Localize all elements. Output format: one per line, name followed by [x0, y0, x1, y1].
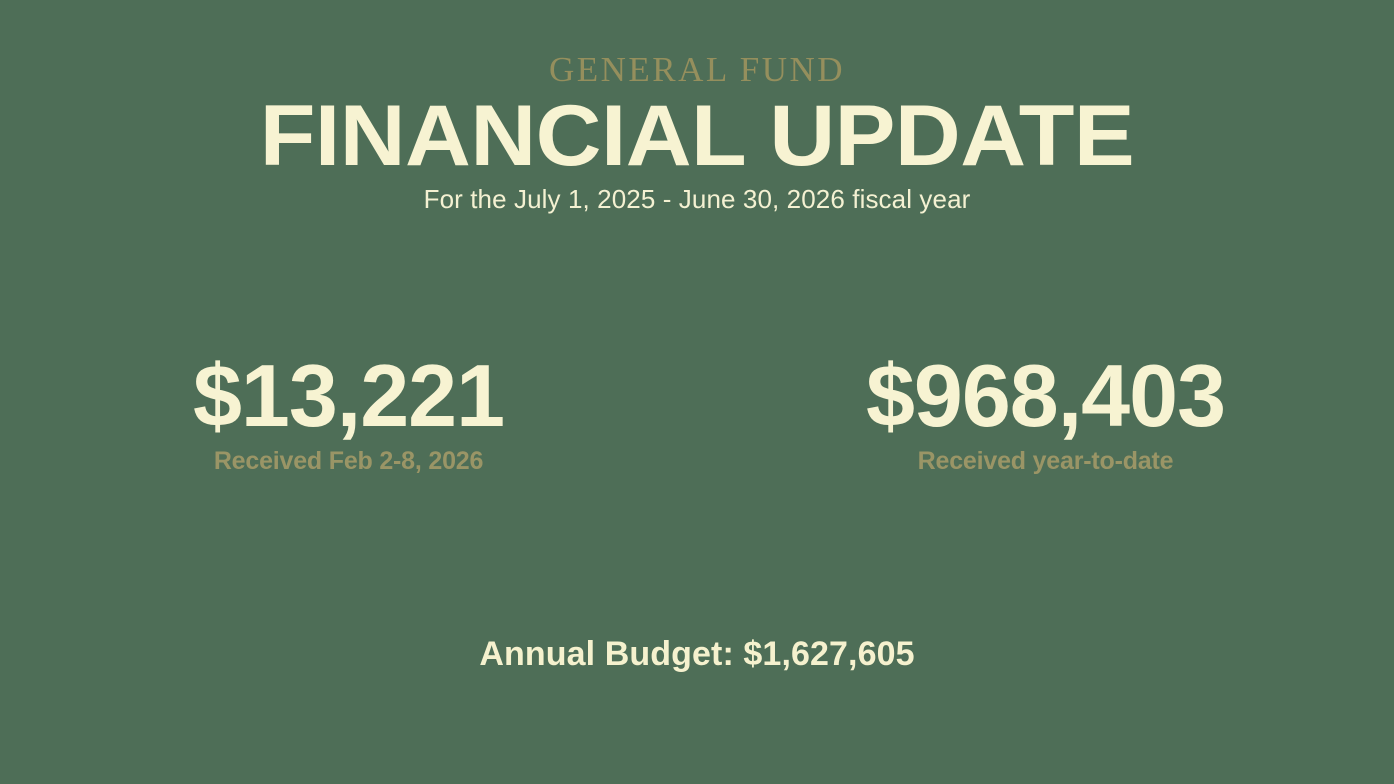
- stat-label: Received Feb 2-8, 2026: [0, 446, 697, 476]
- stat-value: $968,403: [697, 348, 1394, 444]
- stat-weekly-received: $13,221 Received Feb 2-8, 2026: [0, 348, 697, 476]
- page-title: FINANCIAL UPDATE: [0, 99, 1394, 173]
- annual-budget-total: Annual Budget: $1,627,605: [0, 632, 1394, 676]
- stat-label: Received year-to-date: [697, 446, 1394, 476]
- financial-update-slide: GENERAL FUND FINANCIAL UPDATE For the Ju…: [0, 0, 1394, 784]
- eyebrow-general-fund: GENERAL FUND: [0, 50, 1394, 90]
- fiscal-year-subtitle: For the July 1, 2025 - June 30, 2026 fis…: [0, 183, 1394, 215]
- header: GENERAL FUND FINANCIAL UPDATE For the Ju…: [0, 0, 1394, 215]
- stat-value: $13,221: [0, 348, 697, 444]
- stats-row: $13,221 Received Feb 2-8, 2026 $968,403 …: [0, 348, 1394, 476]
- stat-year-to-date-received: $968,403 Received year-to-date: [697, 348, 1394, 476]
